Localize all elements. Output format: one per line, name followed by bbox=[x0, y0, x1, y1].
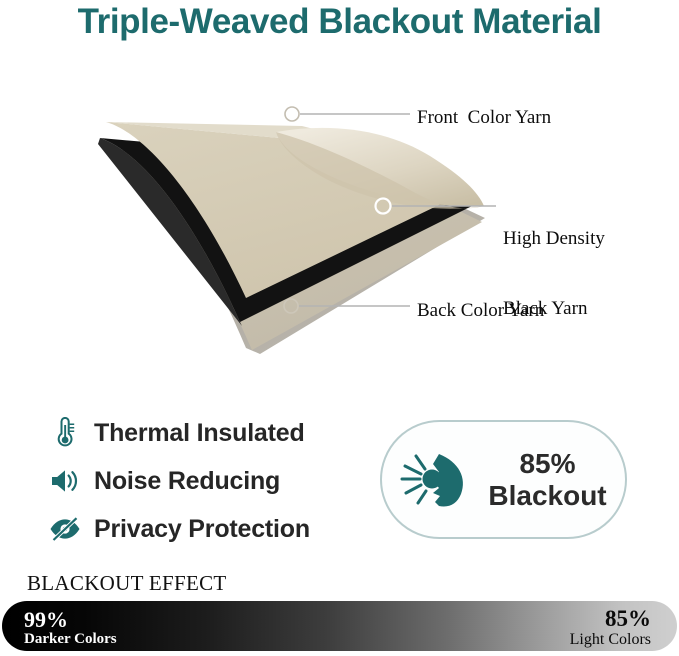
blackout-caption: Blackout bbox=[478, 480, 617, 511]
blackout-effect-bar: 99% Darker Colors 85% Light Colors bbox=[2, 601, 677, 651]
effect-light-percent: 85% bbox=[570, 607, 651, 631]
effect-darker-percent: 99% bbox=[24, 608, 117, 631]
effect-darker-caption: Darker Colors bbox=[24, 631, 117, 648]
blackout-percent: 85% bbox=[478, 448, 617, 479]
feature-item-thermal-insulated: Thermal Insulated bbox=[48, 410, 368, 456]
speaker-sound-icon bbox=[48, 464, 82, 498]
eye-slash-icon bbox=[48, 512, 82, 546]
effect-light-caption: Light Colors bbox=[570, 631, 651, 649]
page-title: Triple-Weaved Blackout Material bbox=[0, 2, 679, 42]
feature-item-privacy-protection: Privacy Protection bbox=[48, 506, 368, 552]
sun-blocked-by-curtain-icon bbox=[396, 444, 478, 516]
feature-list: Thermal Insulated Noise Reducing Privacy… bbox=[48, 410, 368, 554]
feature-label-thermal-insulated: Thermal Insulated bbox=[94, 419, 305, 448]
blackout-badge-text: 85% Blackout bbox=[478, 448, 625, 511]
blackout-badge: 85% Blackout bbox=[380, 420, 627, 539]
callout-line-1: High Density bbox=[503, 227, 605, 250]
feature-label-noise-reducing: Noise Reducing bbox=[94, 467, 280, 496]
feature-item-noise-reducing: Noise Reducing bbox=[48, 458, 368, 504]
callout-back-color-yarn: Back Color Yarn bbox=[417, 299, 544, 322]
blackout-effect-heading: BLACKOUT EFFECT bbox=[27, 571, 227, 596]
callout-front-color-yarn: Front Color Yarn bbox=[417, 106, 551, 129]
effect-darker-colors: 99% Darker Colors bbox=[24, 608, 117, 648]
effect-light-colors: 85% Light Colors bbox=[570, 607, 651, 649]
feature-label-privacy-protection: Privacy Protection bbox=[94, 515, 310, 544]
thermometer-icon bbox=[48, 416, 82, 450]
